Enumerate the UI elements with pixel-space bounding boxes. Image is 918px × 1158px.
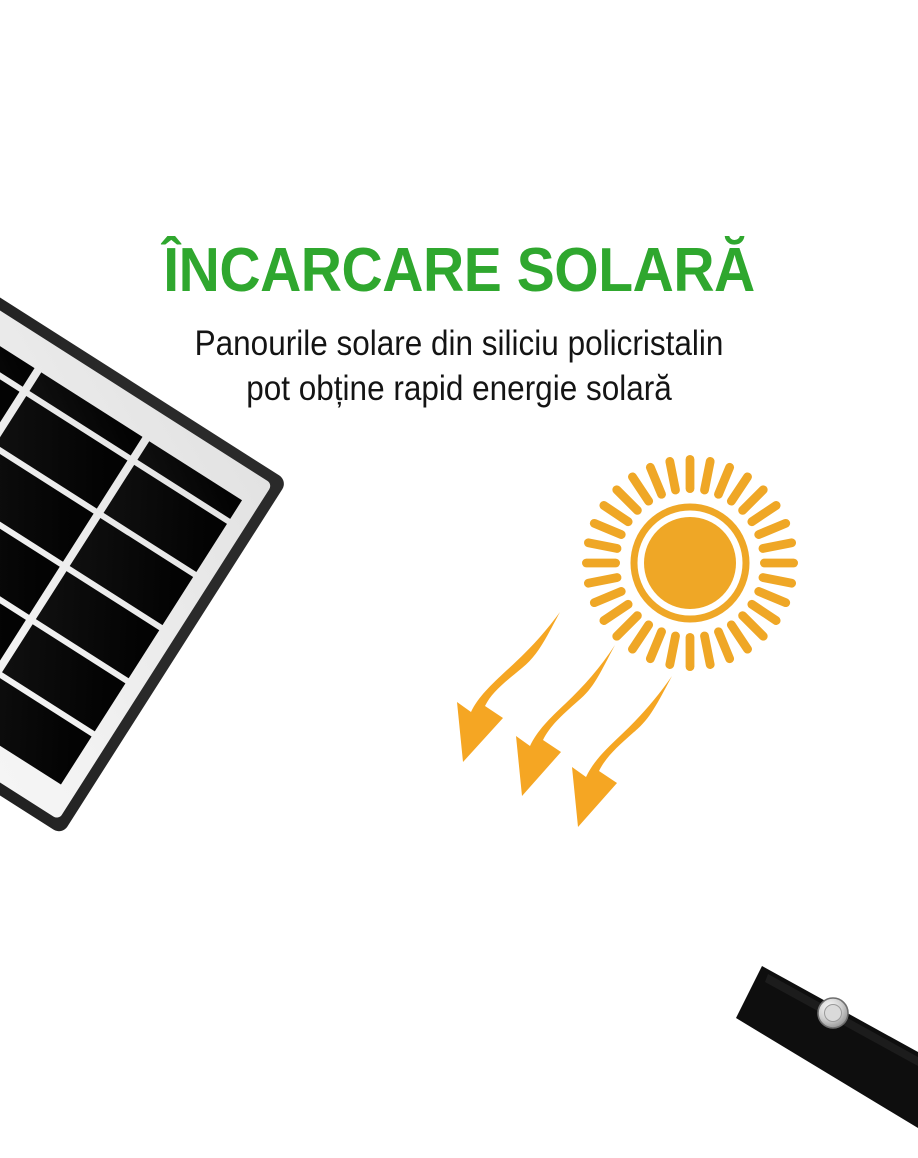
page-title: ÎNCARCARE SOLARĂ	[37, 240, 882, 302]
subtitle-line-1: Panourile solare din siliciu policristal…	[46, 322, 872, 367]
sunlight-arrow-3	[572, 676, 672, 827]
sun-disc	[644, 517, 736, 609]
sun-icon	[582, 455, 798, 671]
solar-panel	[0, 40, 288, 835]
sunlight-arrow-1	[457, 612, 560, 762]
subtitle-block: Panourile solare din siliciu policristal…	[0, 322, 918, 412]
product-feature-banner: ÎNCARCARE SOLARĂ Panourile solare din si…	[0, 0, 918, 1158]
headline-block: ÎNCARCARE SOLARĂ Panourile solare din si…	[0, 240, 918, 412]
solar-panel-illustration	[0, 0, 918, 1158]
mounting-bracket-arm	[736, 966, 918, 1128]
subtitle-line-2: pot obține rapid energie solară	[46, 367, 872, 412]
